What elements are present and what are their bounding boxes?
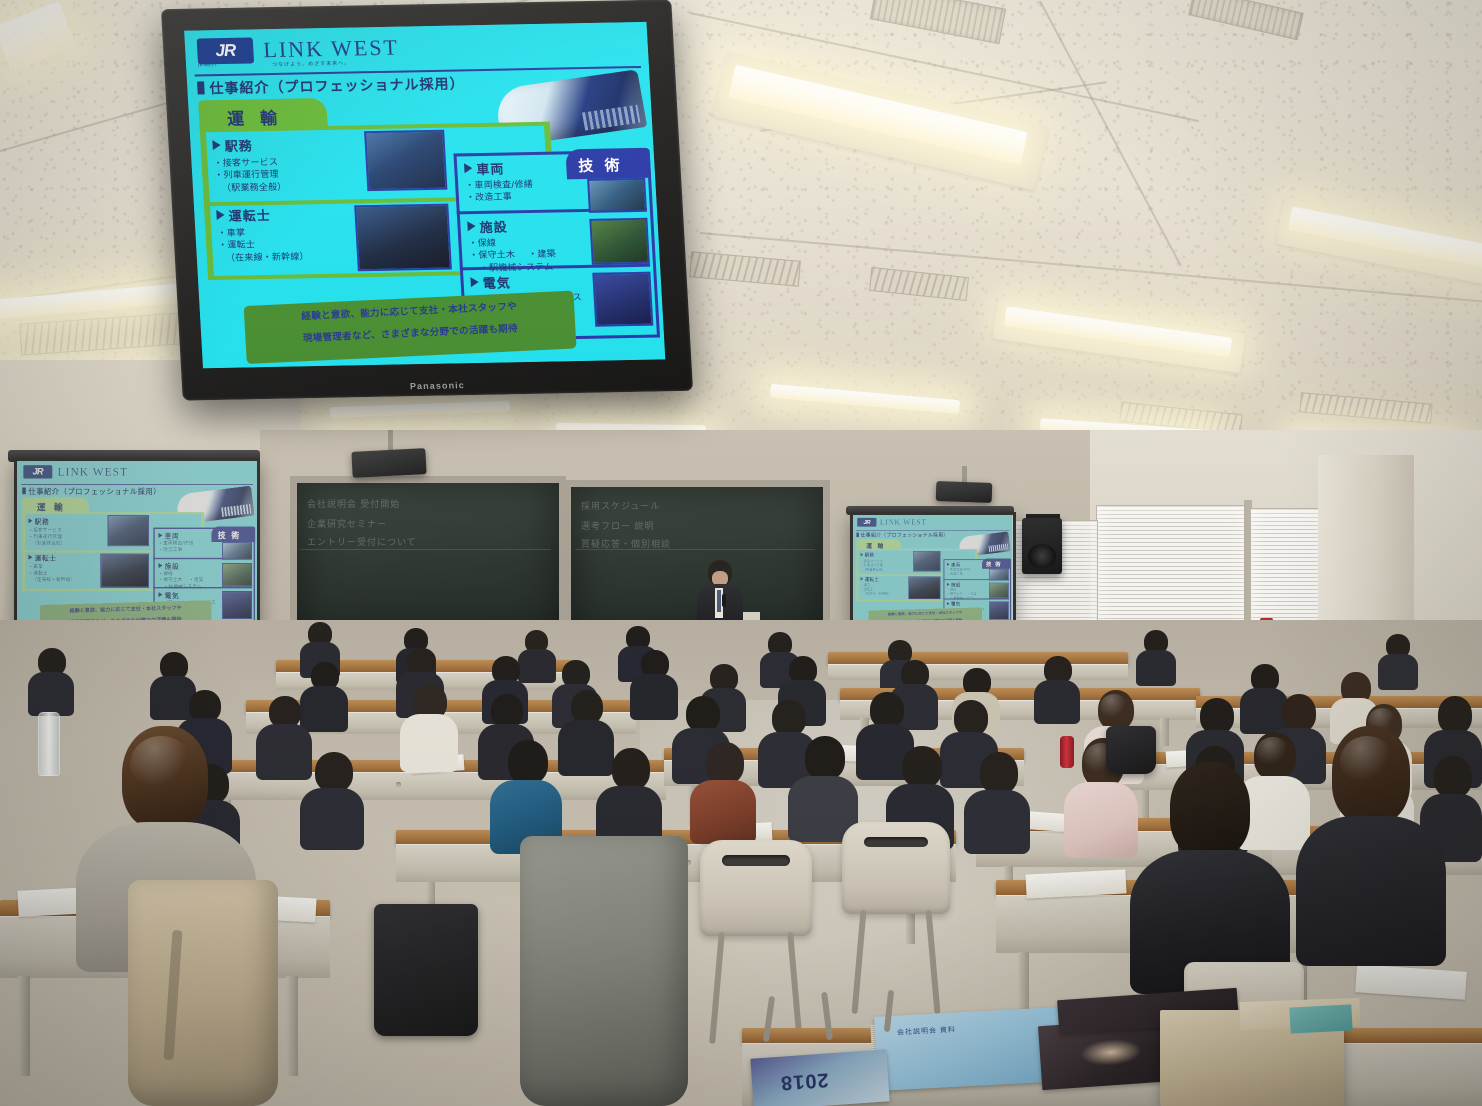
booklet-header: 会社説明会 資料: [897, 1025, 956, 1038]
blackboard: 会社説明会 受付開始 企業研究セミナー エントリー受付について: [290, 476, 566, 642]
audience-member: [788, 736, 858, 836]
display-screen: JR JR-WEST LINK WEST つなげよう、めざす未来へ。 仕事紹介（…: [184, 22, 665, 368]
chalk-text: 選考フロー 説明: [581, 519, 654, 532]
audience-member: [400, 684, 458, 766]
rust-sweater: [690, 780, 756, 844]
title-bullet-icon: [197, 81, 205, 94]
jr-logo-text: JR: [215, 41, 236, 61]
tech-tab: 技 術: [565, 148, 651, 180]
lecture-hall-photo: 会社説明会 受付開始 企業研究セミナー エントリー受付について 採用スケジュール…: [0, 0, 1482, 1106]
audience-member: [630, 650, 678, 714]
arrow-icon: [216, 210, 225, 220]
train-cab-photo: [354, 204, 452, 272]
jr-logo: JR: [197, 37, 254, 64]
arrow-icon: [470, 277, 479, 287]
audience-member: [1034, 656, 1080, 718]
facility-photo: [589, 218, 650, 265]
chair: [842, 822, 950, 914]
teal-folder: [1289, 1004, 1352, 1033]
chalk-text: エントリー受付について: [307, 535, 417, 548]
bullet: ・車両検査/修繕: [465, 179, 533, 193]
arrow-icon: [464, 163, 473, 173]
tech-tab-label: 技 術: [578, 154, 623, 176]
audience-head: [1170, 762, 1250, 858]
presentation-slide: JR JR-WEST LINK WEST つなげよう、めざす未来へ。 仕事紹介（…: [184, 22, 665, 368]
bullet: ・保守土木: [469, 250, 516, 263]
bullet: （駅業務全般）: [215, 182, 287, 196]
shoulder-bag: [1106, 726, 1156, 774]
audience-member: [1296, 726, 1446, 956]
audience-member: [964, 752, 1030, 848]
bullet: ・建築: [528, 249, 556, 262]
audience-member: [596, 748, 662, 844]
tagline: つなげよう、めざす未来へ。: [272, 60, 350, 68]
wall-display: JR JR-WEST LINK WEST つなげよう、めざす未来へ。 仕事紹介（…: [161, 0, 693, 401]
left-projection-screen: JR LINK WEST 仕事紹介（プロフェッショナル採用） 運 輸 駅務 ・接…: [14, 458, 260, 646]
grey-coat: [520, 836, 688, 1106]
microphone: [722, 594, 726, 607]
bullet: （在来線・新幹線）: [219, 251, 310, 265]
audience-member: [1136, 630, 1176, 682]
slide-banner: 経験と意欲、能力に応じて支社・本社スタッフや 現場管理者など、さまざまな分野での…: [244, 291, 577, 364]
section-heading-ekimu: 駅務: [212, 135, 285, 155]
pamphlet-year: 2018: [779, 1067, 829, 1093]
pamphlet-2018: 2018: [750, 1049, 889, 1106]
section-heading-untenshi: 運転士: [216, 204, 307, 225]
water-bottle: [38, 712, 60, 776]
jr-logo-subtext: JR-WEST: [198, 62, 217, 67]
arrow-icon: [467, 221, 476, 231]
ceiling-projector: [936, 481, 993, 503]
audience-member: [690, 742, 756, 838]
audience-head: [508, 740, 548, 784]
bullet: ・保線: [468, 236, 589, 251]
chalk-text: 企業研究セミナー: [307, 517, 387, 530]
audience-member: [1130, 762, 1290, 982]
section-heading-denki: 電気: [470, 271, 581, 292]
beige-coat: [128, 880, 278, 1106]
ceiling-projector: [351, 448, 426, 478]
slide-title: 仕事紹介（プロフェッショナル採用）: [197, 73, 465, 98]
section-heading-sharyo: 車両: [464, 158, 533, 178]
shoulder-bag: [374, 904, 478, 1036]
chair: [700, 840, 812, 936]
pink-coat: [1064, 782, 1138, 858]
rolling-stock-photo: [587, 178, 647, 213]
bullet: ・列車運行管理: [214, 169, 286, 183]
arrow-icon: [212, 140, 221, 150]
chalk-text: 会社説明会 受付開始: [307, 497, 400, 510]
audience-member: [300, 752, 364, 844]
bullet: ・改造工事: [466, 191, 534, 205]
audience-member: [1378, 634, 1418, 686]
section-heading-shisetsu: 施設: [467, 215, 588, 236]
chalk-text: 質疑応答・個別相談: [581, 537, 671, 550]
wall-speaker: [1022, 518, 1062, 574]
audience-member: [490, 740, 562, 848]
blue-booklet-stack: 会社説明会 資料: [874, 1007, 1062, 1091]
audience-member: [28, 648, 74, 710]
station-staff-photo: [364, 130, 447, 191]
chalk-text: 採用スケジュール: [581, 499, 660, 512]
tv-brand-label: Panasonic: [410, 380, 466, 391]
electrical-photo: [592, 272, 653, 327]
